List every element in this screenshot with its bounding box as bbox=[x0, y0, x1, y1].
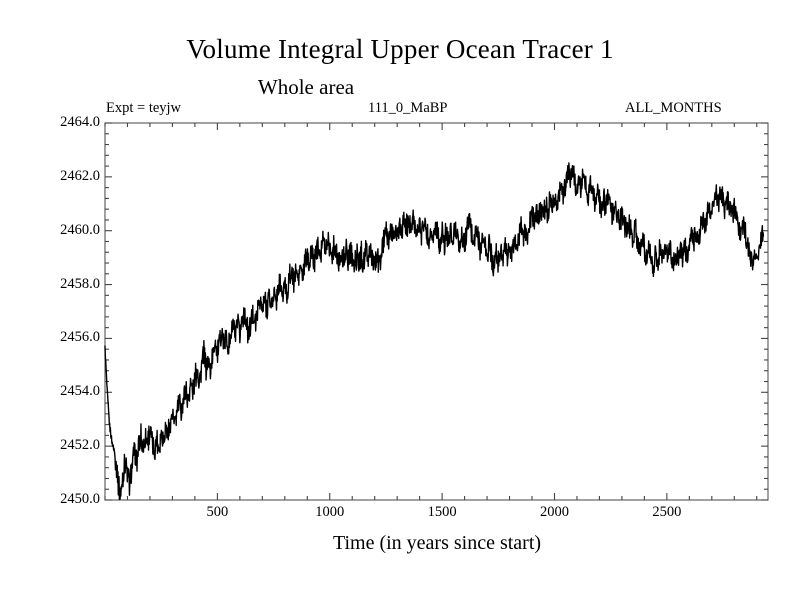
x-tick-label: 1500 bbox=[428, 504, 457, 521]
x-tick-label: 1000 bbox=[315, 504, 344, 521]
x-tick-label: 500 bbox=[206, 504, 228, 521]
x-axis-title: Time (in years since start) bbox=[105, 532, 769, 555]
figure-canvas: Volume Integral Upper Ocean Tracer 1 Who… bbox=[0, 0, 800, 600]
x-axis-tick-labels: 5001000150020002500 bbox=[0, 0, 800, 600]
x-tick-label: 2500 bbox=[652, 504, 681, 521]
x-tick-label: 2000 bbox=[540, 504, 569, 521]
